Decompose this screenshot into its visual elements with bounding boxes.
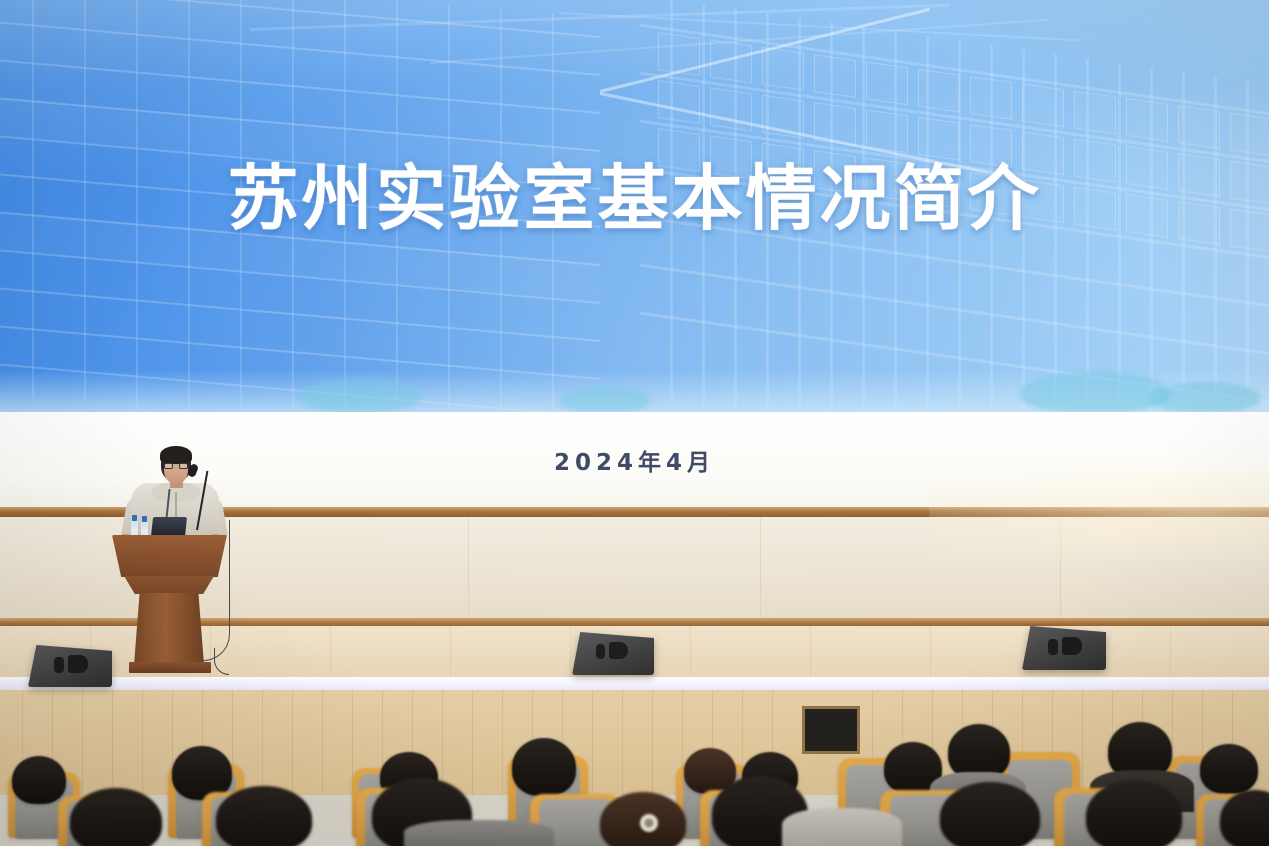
hair-scrunchie [640,814,658,832]
audience-head [940,782,1040,846]
slide-title: 苏州实验室基本情况简介 [0,163,1269,234]
audience-shoulders [404,820,554,846]
audience-area [0,690,1269,846]
projection-screen: 苏州实验室基本情况简介 2024年4月 [0,0,1269,512]
stage-monitor-right [1022,626,1106,670]
audience-head [216,786,312,846]
podium-apron [124,576,214,594]
audience-head [12,756,66,804]
audience-shoulders [782,808,902,846]
podium-column [134,593,204,665]
stage-monitor-left [28,645,112,687]
audience-head [1200,744,1258,794]
slide-tree [1020,372,1170,412]
laptop-screen [151,517,187,537]
slide-tree [300,378,420,412]
stage-monitor-center [572,632,654,675]
audience-head [1086,780,1182,846]
podium-base [129,662,211,673]
stage-front-edge-strip [0,677,1269,691]
slide-background-image: 苏州实验室基本情况简介 [0,0,1269,412]
audience-head [512,738,576,796]
slide-tree [1150,382,1260,412]
slide-tree [560,386,650,412]
speaker-hair [160,446,192,464]
microphone-cable [203,520,230,661]
presentation-photo-scene: 苏州实验室基本情况简介 2024年4月 [0,0,1269,846]
water-bottle [131,520,138,537]
speaker-glasses [164,463,188,469]
audience-head [70,788,162,846]
